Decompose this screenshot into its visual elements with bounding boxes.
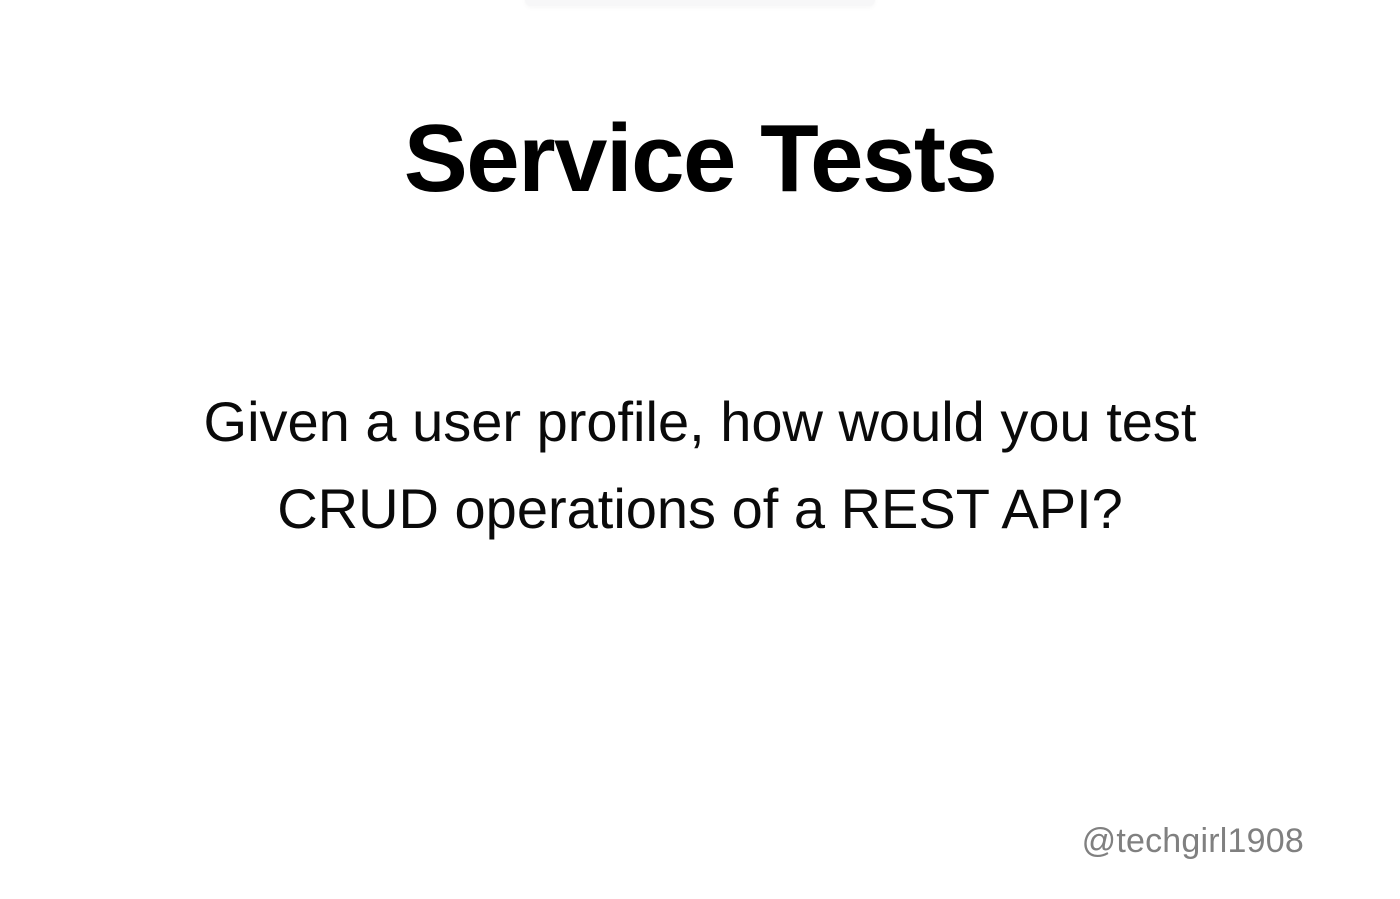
page-title: Service Tests [0, 104, 1400, 214]
presentation-slide: Service Tests Given a user profile, how … [0, 0, 1400, 899]
author-handle: @techgirl1908 [1082, 822, 1304, 861]
top-edge-shadow-artifact [525, 0, 875, 6]
slide-body-text: Given a user profile, how would you test… [120, 378, 1280, 553]
